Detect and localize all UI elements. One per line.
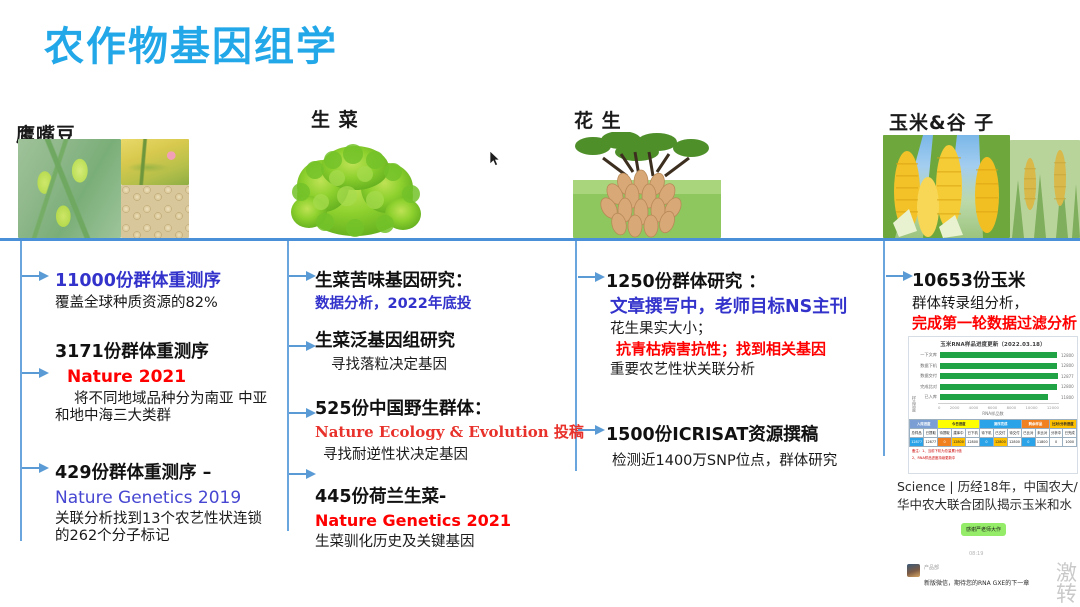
chart-x-tick: 2000	[950, 405, 960, 410]
table-cell: 待下机	[980, 428, 994, 437]
bullet-arrow-icon	[578, 425, 606, 436]
chart-bar	[940, 363, 1057, 369]
chart-value-label: 12800	[1059, 353, 1077, 358]
crop-label-peanut: 花 生	[574, 106, 622, 133]
table-cell: 12800	[951, 437, 965, 446]
entry-lettuce-2: 生菜泛基因组研究 寻找落粒决定基因	[289, 331, 455, 374]
entry-line: 将不同地域品种分为南亚 中亚	[74, 391, 267, 408]
chart-x-tick: 12000	[1047, 405, 1059, 410]
entry-headline: 1500份ICRISAT资源撰稿	[606, 425, 837, 446]
table-cell: 建库中	[951, 428, 965, 437]
entry-headline: 生菜泛基因组研究	[315, 331, 455, 352]
crop-label-maize-millet: 玉米&谷 子	[889, 108, 994, 135]
chart-value-label: 11800	[1059, 395, 1077, 400]
entry-chickpea-3: 429份群体重测序 – Nature Genetics 2019 关联分析找到1…	[22, 463, 262, 545]
entry-line-journal: Nature Ecology & Evolution 投稿	[315, 424, 584, 442]
chart-x-axis: 0 2000 4000 6000 8000 10000 12000	[938, 403, 1059, 410]
entry-line: 关联分析找到13个农艺性状连锁	[55, 511, 262, 528]
entry-headline: 445份荷兰生菜-	[315, 487, 511, 508]
wechat-headline-line-1: Science | 历经18年，中国农大/	[897, 478, 1080, 496]
entry-line-journal: Nature Genetics 2019	[55, 488, 262, 508]
entry-line: 群体转录组分析，	[912, 296, 1077, 313]
chart-plot-area: 样品进度 一下文库 12800 数据下机 12800 数据交付 12877	[909, 348, 1077, 417]
bullet-arrow-icon	[578, 272, 606, 283]
table-row: 总样品 已提取 待提取 建库中 已下机 待下机 已交付 待交付 已比对 未比对 …	[910, 428, 1077, 437]
peanut-plant-photo	[573, 132, 721, 238]
entry-lettuce-3: 525份中国野生群体： Nature Ecology & Evolution 投…	[289, 399, 584, 464]
entry-headline: 429份群体重测序 –	[55, 463, 262, 484]
bullet-arrow-icon	[22, 271, 50, 282]
wechat-article-block[interactable]: Science | 历经18年，中国农大/ 华中农大联合团队揭示玉米和水 感谢严…	[897, 478, 1080, 607]
chickpea-seeds-photo	[121, 185, 189, 238]
bullet-arrow-icon	[22, 368, 50, 379]
chart-bar-track	[940, 352, 1059, 358]
entry-maize-1: 10653份玉米 群体转录组分析， 完成第一轮数据过滤分析	[886, 271, 1077, 332]
chart-bar-row: 数据交付 12877	[909, 371, 1077, 382]
chart-bar-track	[940, 384, 1059, 390]
bullet-arrow-icon	[886, 271, 914, 282]
bullet-arrow-icon	[289, 271, 317, 282]
table-cell: 0	[1049, 437, 1063, 446]
chickpea-flower-photo	[121, 139, 189, 185]
wechat-headline-line-2: 华中农大联合团队揭示玉米和水	[897, 496, 1080, 514]
chart-x-tick: 6000	[988, 405, 998, 410]
bullet-arrow-icon	[289, 341, 317, 352]
lettuce-photo	[275, 130, 435, 238]
chart-x-tick: 0	[938, 405, 940, 410]
watermark: 激 转	[1056, 563, 1078, 605]
entry-line: 生菜驯化历史及关键基因	[315, 534, 511, 551]
chart-bar	[940, 373, 1058, 379]
column-rule-maize	[883, 241, 885, 456]
table-cell: 待提取	[938, 428, 952, 437]
chart-y-axis-label: 样品进度	[911, 396, 917, 412]
entry-chickpea-2: 3171份群体重测序 Nature 2021 将不同地域品种分为南亚 中亚 和地…	[22, 342, 267, 425]
entry-headline: 3171份群体重测序	[55, 342, 267, 363]
chart-bar-row: 完成比对 12800	[909, 382, 1077, 393]
chart-bar-track	[940, 394, 1059, 400]
table-cell: 分析中	[1049, 428, 1063, 437]
entry-headline: 1250份群体研究 ：	[606, 272, 847, 293]
chart-bar	[940, 394, 1048, 400]
table-cell: 已交付	[993, 428, 1007, 437]
entry-lettuce-4: 445份荷兰生菜- Nature Genetics 2021 生菜驯化历史及关键…	[289, 487, 511, 551]
bullet-arrow-icon	[22, 463, 50, 474]
wechat-timestamp: 08:19	[969, 551, 983, 557]
table-cell: 总样品	[910, 428, 924, 437]
table-cell: 11800	[1035, 437, 1049, 446]
chart-bar-track	[940, 373, 1059, 379]
table-cell: 12800	[1007, 437, 1021, 446]
entry-line: 数据分析，2022年底投	[315, 296, 473, 313]
embedded-progress-chart-card[interactable]: 玉米RNA样品进度更新（2022.03.18） 样品进度 一下文库 12800 …	[908, 336, 1078, 474]
watermark-line-2: 转	[1056, 584, 1078, 605]
table-cell: 12800	[993, 437, 1007, 446]
table-note-1: 备注：1、当前下机为总量累计值	[909, 447, 1077, 454]
table-cell: 12800	[966, 437, 980, 446]
table-cell: 0	[1022, 437, 1036, 446]
table-header-cell: 比对/分析进度	[1049, 419, 1076, 428]
chart-bar-row: 一下文库 12800	[909, 350, 1077, 361]
entry-peanut-2: 1500份ICRISAT资源撰稿 检测近1400万SNP位点，群体研究	[578, 425, 837, 470]
table-cell: 0	[938, 437, 952, 446]
chart-category-label: 完成比对	[911, 384, 940, 390]
table-cell: 已完成	[1063, 428, 1077, 437]
entry-line-highlight: 完成第一轮数据过滤分析	[912, 315, 1077, 333]
entry-line-highlight: 抗青枯病害抗性；找到相关基因	[616, 341, 847, 359]
chart-value-label: 12800	[1059, 384, 1077, 389]
chart-value-label: 12800	[1059, 363, 1077, 368]
entry-line: 花生果实大小；	[610, 321, 847, 338]
chart-bar	[940, 352, 1057, 358]
entry-line: 和地中海三大类群	[55, 408, 267, 425]
slide-canvas: 农作物基因组学 鹰嘴豆 生 菜	[0, 0, 1080, 607]
table-cell: 12877	[924, 437, 938, 446]
bullet-arrow-icon	[289, 469, 317, 480]
table-header-cell: 今日进度	[938, 419, 980, 428]
chart-category-label: 一下文库	[911, 352, 940, 358]
chart-x-axis-label: RNA样品数	[909, 410, 1077, 417]
entry-lettuce-1: 生菜苦味基因研究： 数据分析，2022年底投	[289, 271, 473, 313]
page-title: 农作物基因组学	[44, 14, 338, 72]
entry-line-journal: Nature 2021	[67, 367, 267, 387]
table-cell: 12877	[910, 437, 924, 446]
table-cell: 已比对	[1022, 428, 1036, 437]
entry-line: 的262个分子标记	[55, 528, 262, 545]
crop-label-lettuce: 生 菜	[311, 105, 359, 132]
entry-headline: 生菜苦味基因研究：	[315, 271, 473, 292]
entry-line-journal: Nature Genetics 2021	[315, 512, 511, 531]
chart-x-tick: 10000	[1026, 405, 1038, 410]
wechat-message-text: 新版微信，期待您的RNA GXE的下一章	[924, 578, 1029, 587]
entry-line: 寻找落粒决定基因	[331, 357, 455, 374]
chart-category-label: 数据交付	[911, 373, 940, 379]
table-note-2: 2、RNA样品进度持续更新中	[909, 454, 1077, 461]
entry-line: 检测近1400万SNP位点，群体研究	[612, 453, 837, 470]
maize-photo	[883, 135, 1010, 238]
chart-value-label: 12877	[1059, 374, 1077, 379]
table-cell: 未比对	[1035, 428, 1049, 437]
entry-line: 覆盖全球种质资源的82%	[55, 295, 221, 312]
table-cell: 待交付	[1007, 428, 1021, 437]
chart-bar	[940, 384, 1057, 390]
table-header-cell: 测序完成	[980, 419, 1022, 428]
entry-line: 寻找耐逆性状决定基因	[323, 447, 584, 464]
chart-bar-row: 已入库 11800	[909, 392, 1077, 403]
chart-title: 玉米RNA样品进度更新（2022.03.18）	[909, 337, 1077, 348]
entry-line: 重要农艺性状关联分析	[610, 362, 847, 379]
table-cell: 0	[980, 437, 994, 446]
chart-bar-track	[940, 363, 1059, 369]
table-header-cell: 剩余样品	[1022, 419, 1050, 428]
bullet-arrow-icon	[289, 408, 317, 419]
millet-photo	[1010, 140, 1080, 238]
wechat-chat-bubble[interactable]: 感谢严老师大作	[961, 523, 1006, 536]
mouse-pointer-icon	[489, 150, 501, 168]
entry-chickpea-1: 11000份群体重测序 覆盖全球种质资源的82%	[22, 271, 221, 312]
avatar	[907, 564, 920, 577]
chart-category-label: 数据下机	[911, 363, 940, 369]
chart-x-tick: 8000	[1007, 405, 1017, 410]
entry-headline: 10653份玉米	[912, 271, 1077, 292]
table-cell: 1000	[1063, 437, 1077, 446]
table-header-row: 入库进度 今日进度 测序完成 剩余样品 比对/分析进度	[910, 419, 1077, 428]
table-row: 12877 12877 0 12800 12800 0 12800 12800 …	[910, 437, 1077, 446]
chart-bar-row: 数据下机 12800	[909, 361, 1077, 372]
entry-headline: 525份中国野生群体：	[315, 399, 584, 420]
entry-line: 文章撰写中，老师目标NS主刊	[610, 297, 847, 318]
wechat-sender-name: 产品部	[924, 564, 939, 571]
table-header-cell: 入库进度	[910, 419, 938, 428]
entry-headline: 11000份群体重测序	[55, 271, 221, 292]
entry-peanut-1: 1250份群体研究 ： 文章撰写中，老师目标NS主刊 花生果实大小； 抗青枯病害…	[578, 272, 847, 379]
header-divider-line	[0, 238, 1080, 241]
table-cell: 已提取	[924, 428, 938, 437]
progress-summary-table: 入库进度 今日进度 测序完成 剩余样品 比对/分析进度 总样品 已提取 待提取 …	[909, 419, 1077, 447]
table-cell: 已下机	[966, 428, 980, 437]
chickpea-pods-photo	[18, 139, 121, 238]
chart-x-tick: 4000	[969, 405, 979, 410]
watermark-line-1: 激	[1056, 563, 1078, 584]
